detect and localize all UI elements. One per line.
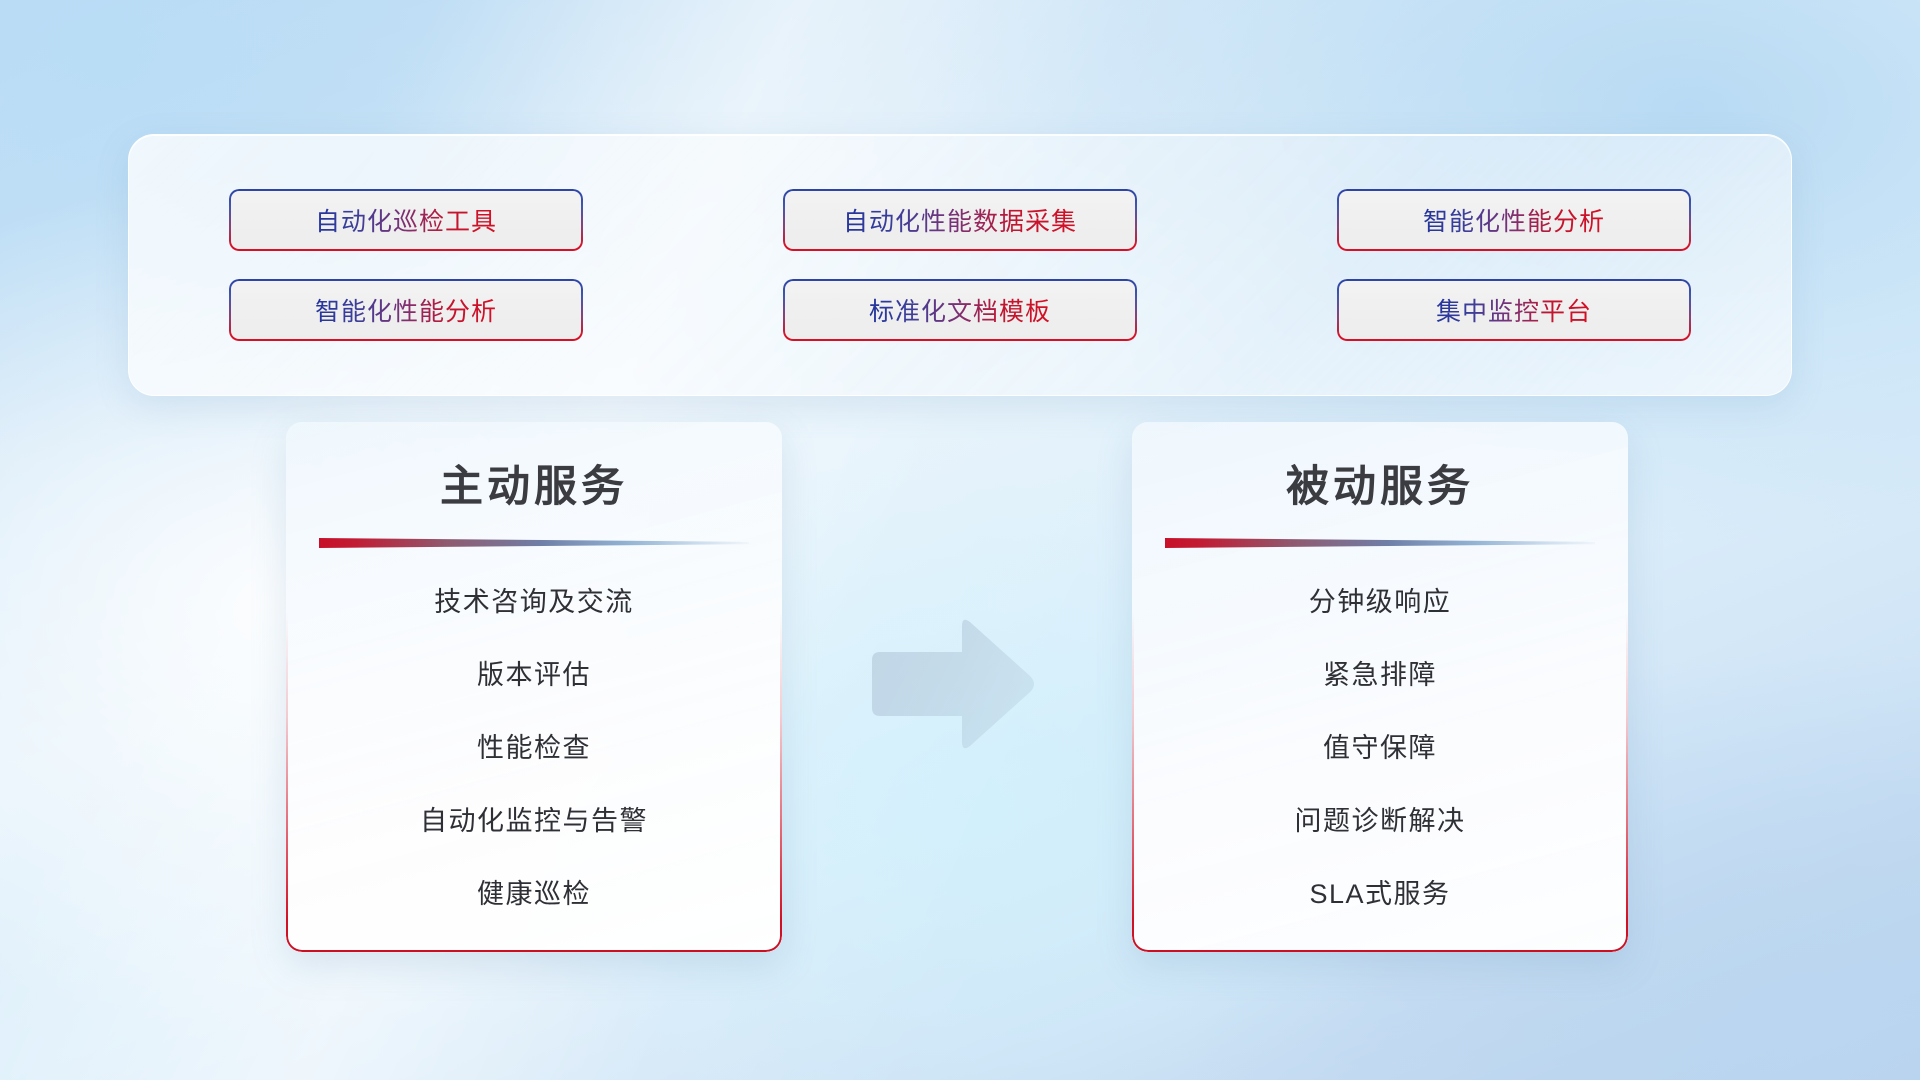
service-card-proactive: 主动服务 技术咨询及交流 版本评估 性能检查 自动化监控与告警 健康巡检 — [286, 422, 782, 952]
capability-pill-label: 标准化文档模板 — [869, 292, 1051, 328]
capability-row-2: 智能化性能分析 标准化文档模板 集中监控平台 — [229, 279, 1691, 341]
capability-row-1: 自动化巡检工具 自动化性能数据采集 智能化性能分析 — [229, 189, 1691, 251]
service-list-item: 性能检查 — [310, 726, 758, 765]
service-list-item: 分钟级响应 — [1156, 580, 1604, 619]
service-list-item: 版本评估 — [310, 653, 758, 692]
capability-pill-centralized-monitoring-platform[interactable]: 集中监控平台 — [1337, 279, 1691, 341]
capability-pill-label: 智能化性能分析 — [315, 292, 497, 328]
service-list-item: 自动化监控与告警 — [310, 799, 758, 838]
service-card-reactive: 被动服务 分钟级响应 紧急排障 值守保障 问题诊断解决 SLA式服务 — [1132, 422, 1628, 952]
service-list-item: 值守保障 — [1156, 726, 1604, 765]
service-list-item: 紧急排障 — [1156, 653, 1604, 692]
diagram-canvas: 自动化巡检工具 自动化性能数据采集 智能化性能分析 智能化性能分析 标准化文档模… — [0, 0, 1920, 1080]
service-card-title: 主动服务 — [286, 452, 782, 514]
service-list-item: 问题诊断解决 — [1156, 799, 1604, 838]
service-card-title: 被动服务 — [1132, 452, 1628, 514]
capability-pill-automated-performance-data-collection[interactable]: 自动化性能数据采集 — [783, 189, 1137, 251]
capability-pill-label: 智能化性能分析 — [1423, 202, 1605, 238]
capability-pill-automated-inspection-tool[interactable]: 自动化巡检工具 — [229, 189, 583, 251]
capability-pill-standardized-document-template[interactable]: 标准化文档模板 — [783, 279, 1137, 341]
service-list-item: 健康巡检 — [310, 872, 758, 911]
service-item-list: 技术咨询及交流 版本评估 性能检查 自动化监控与告警 健康巡检 — [286, 580, 782, 911]
service-list-item: SLA式服务 — [1156, 872, 1604, 911]
capability-pill-label: 自动化巡检工具 — [315, 202, 497, 238]
capability-pill-intelligent-performance-analysis-2[interactable]: 智能化性能分析 — [229, 279, 583, 341]
right-arrow-icon — [866, 614, 1038, 754]
title-divider — [319, 538, 749, 548]
service-item-list: 分钟级响应 紧急排障 值守保障 问题诊断解决 SLA式服务 — [1132, 580, 1628, 911]
capability-pill-label: 自动化性能数据采集 — [843, 202, 1077, 238]
capability-pill-label: 集中监控平台 — [1436, 292, 1592, 328]
capability-panel: 自动化巡检工具 自动化性能数据采集 智能化性能分析 智能化性能分析 标准化文档模… — [128, 134, 1792, 396]
title-divider — [1165, 538, 1595, 548]
service-list-item: 技术咨询及交流 — [310, 580, 758, 619]
capability-pill-intelligent-performance-analysis-1[interactable]: 智能化性能分析 — [1337, 189, 1691, 251]
